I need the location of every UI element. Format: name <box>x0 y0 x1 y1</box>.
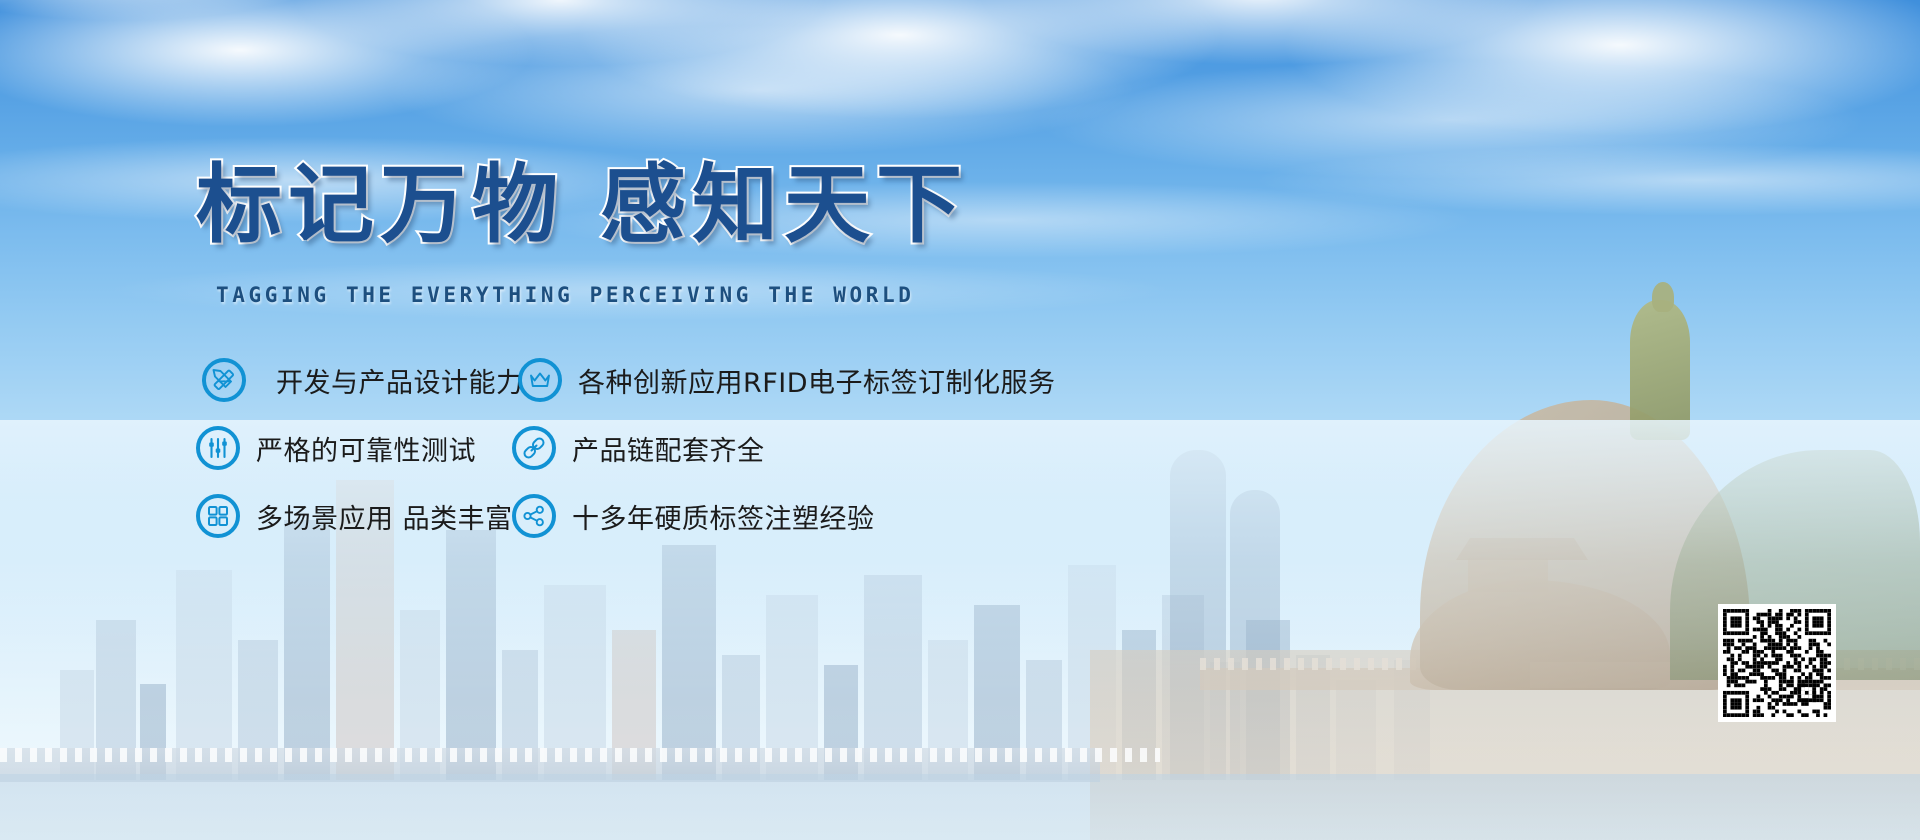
feature-label: 十多年硬质标签注塑经验 <box>572 497 875 536</box>
crown-icon <box>518 358 562 402</box>
link-chain-icon <box>512 426 556 470</box>
qr-code[interactable] <box>1718 604 1836 722</box>
feature-label: 严格的可靠性测试 <box>256 429 476 468</box>
share-nodes-icon <box>512 494 556 538</box>
subheadline: TAGGING THE EVERYTHING PERCEIVING THE WO… <box>216 283 914 307</box>
ruler-pencil-icon <box>202 358 246 402</box>
feature-item-multi-scenario-applications: 多场景应用 品类丰富 <box>196 494 536 538</box>
sliders-icon <box>196 426 240 470</box>
feature-label: 各种创新应用RFID电子标签订制化服务 <box>578 361 1056 400</box>
feature-row: 开发与产品设计能力 各种创新应用RFID电子标签订制化服务 <box>196 358 1256 402</box>
feature-label: 产品链配套齐全 <box>572 429 765 468</box>
feature-item-rfid-custom-service: 各种创新应用RFID电子标签订制化服务 <box>518 358 1256 402</box>
grid-squares-icon <box>196 494 240 538</box>
promo-banner: 标记万物 感知天下 TAGGING THE EVERYTHING PERCEIV… <box>0 0 1920 840</box>
qr-code-image <box>1723 609 1831 717</box>
feature-item-development-design: 开发与产品设计能力 <box>196 358 542 402</box>
feature-row: 多场景应用 品类丰富 <box>196 494 1256 538</box>
feature-label: 多场景应用 品类丰富 <box>256 497 513 536</box>
feature-item-reliability-testing: 严格的可靠性测试 <box>196 426 536 470</box>
feature-item-complete-product-chain: 产品链配套齐全 <box>512 426 1256 470</box>
feature-label: 开发与产品设计能力 <box>276 361 524 400</box>
feature-item-injection-molding-experience: 十多年硬质标签注塑经验 <box>512 494 1256 538</box>
banner-content: 标记万物 感知天下 TAGGING THE EVERYTHING PERCEIV… <box>0 0 1920 840</box>
headline: 标记万物 感知天下 <box>196 160 968 250</box>
feature-list: 开发与产品设计能力 各种创新应用RFID电子标签订制化服务 <box>196 358 1256 562</box>
feature-row: 严格的可靠性测试 产品链配套齐全 <box>196 426 1256 470</box>
